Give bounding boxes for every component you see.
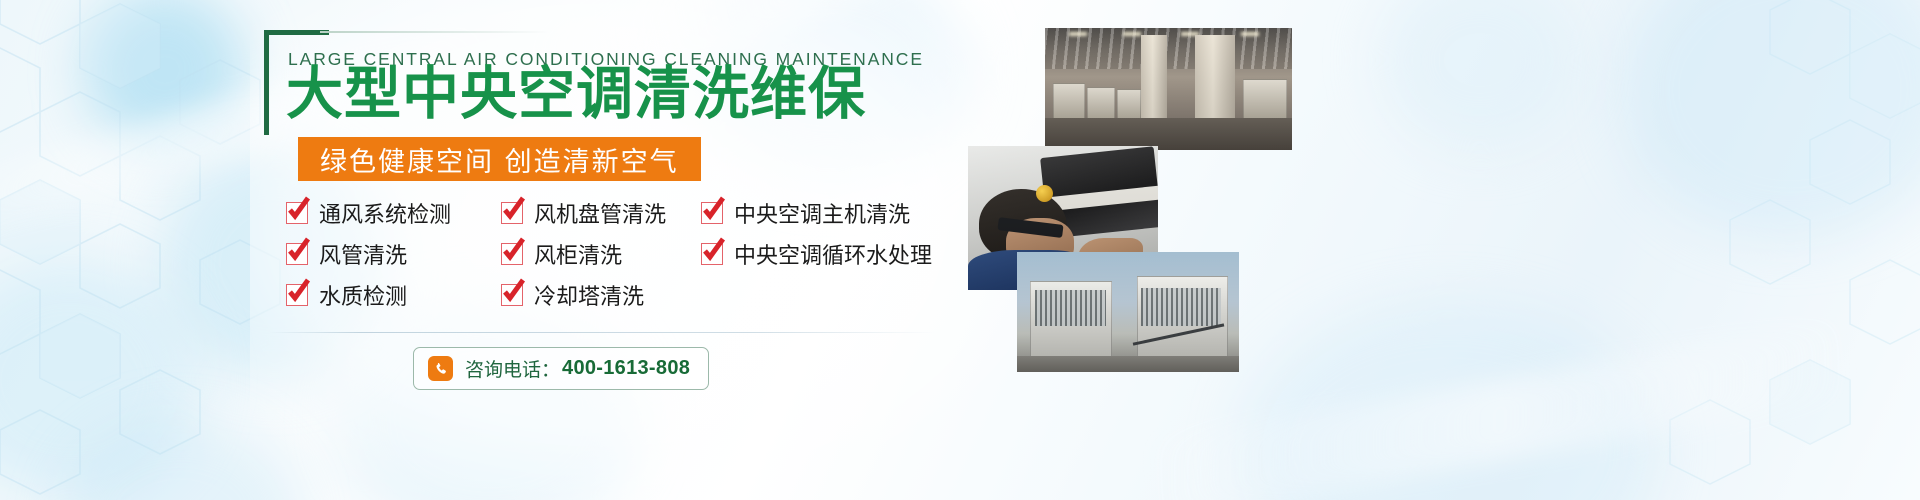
feature-item: 中央空调循环水处理 (701, 238, 932, 270)
check-icon (701, 202, 723, 224)
promotional-banner: LARGE CENTRAL AIR CONDITIONING CLEANING … (0, 0, 1920, 500)
feature-item: 风柜清洗 (501, 238, 701, 270)
top-rule-decoration (320, 31, 550, 33)
condenser-units-photo (1017, 252, 1239, 372)
feature-label: 风机盘管清洗 (534, 197, 666, 229)
feature-row: 水质检测 冷却塔清洗 (286, 274, 966, 315)
feature-item: 中央空调主机清洗 (701, 197, 910, 229)
check-icon (701, 243, 723, 265)
slogan-text: 绿色健康空间 创造清新空气 (320, 140, 679, 179)
phone-number: 400-1613-808 (562, 357, 690, 380)
divider (268, 332, 936, 333)
feature-row: 风管清洗 风柜清洗 中央空调循环水处理 (286, 233, 966, 274)
check-icon (286, 243, 308, 265)
feature-item: 水质检测 (286, 279, 501, 311)
feature-label: 中央空调主机清洗 (734, 197, 910, 229)
check-icon (501, 284, 523, 306)
banner-content: LARGE CENTRAL AIR CONDITIONING CLEANING … (0, 0, 1000, 500)
machine-hall-photo (1045, 28, 1292, 150)
contact-phone-pill[interactable]: 咨询电话： 400-1613-808 (413, 347, 709, 390)
phone-label: 咨询电话： (465, 355, 560, 382)
check-icon (501, 243, 523, 265)
feature-label: 风柜清洗 (534, 238, 622, 270)
feature-item: 冷却塔清洗 (501, 279, 701, 311)
check-icon (286, 202, 308, 224)
feature-item: 风机盘管清洗 (501, 197, 701, 229)
page-title: 大型中央空调清洗维保 (286, 66, 866, 123)
slogan-banner: 绿色健康空间 创造清新空气 (298, 137, 701, 181)
feature-item: 风管清洗 (286, 238, 501, 270)
feature-label: 风管清洗 (319, 238, 407, 270)
feature-label: 中央空调循环水处理 (734, 238, 932, 270)
feature-row: 通风系统检测 风机盘管清洗 中央空调主机清洗 (286, 192, 966, 233)
feature-label: 冷却塔清洗 (534, 279, 644, 311)
feature-item: 通风系统检测 (286, 197, 501, 229)
feature-label: 水质检测 (319, 279, 407, 311)
check-icon (501, 202, 523, 224)
feature-label: 通风系统检测 (319, 197, 451, 229)
check-icon (286, 284, 308, 306)
phone-icon (428, 356, 453, 381)
feature-list: 通风系统检测 风机盘管清洗 中央空调主机清洗 (286, 192, 966, 315)
